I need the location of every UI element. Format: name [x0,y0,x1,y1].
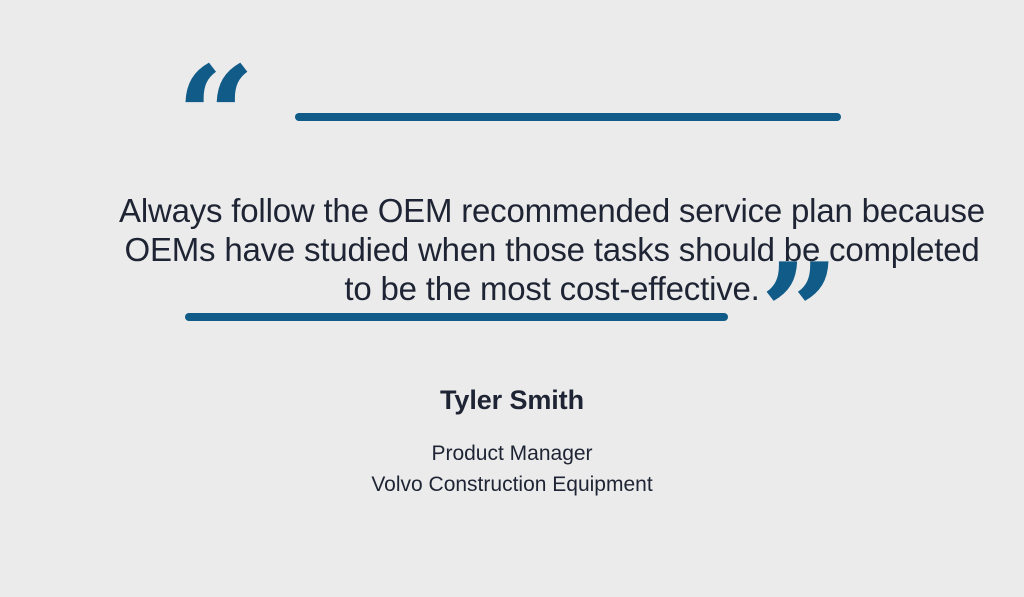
author-role: Product Manager [0,438,1024,469]
quote-card: “ Always follow the OEM recommended serv… [0,0,1024,597]
opening-quote-icon: “ [176,48,255,186]
author-company: Volvo Construction Equipment [0,469,1024,500]
quote-text: Always follow the OEM recommended servic… [102,191,1002,308]
author-name: Tyler Smith [0,383,1024,417]
quote-line-2: OEMs have studied when those tasks shoul… [102,230,1002,269]
bottom-divider-rule [185,313,728,321]
attribution-block: Tyler Smith Product Manager Volvo Constr… [0,383,1024,500]
quote-line-1: Always follow the OEM recommended servic… [102,191,1002,230]
top-divider-rule [295,113,841,121]
closing-quote-icon: ” [760,245,839,383]
quote-line-3: to be the most cost-effective. [102,269,1002,308]
